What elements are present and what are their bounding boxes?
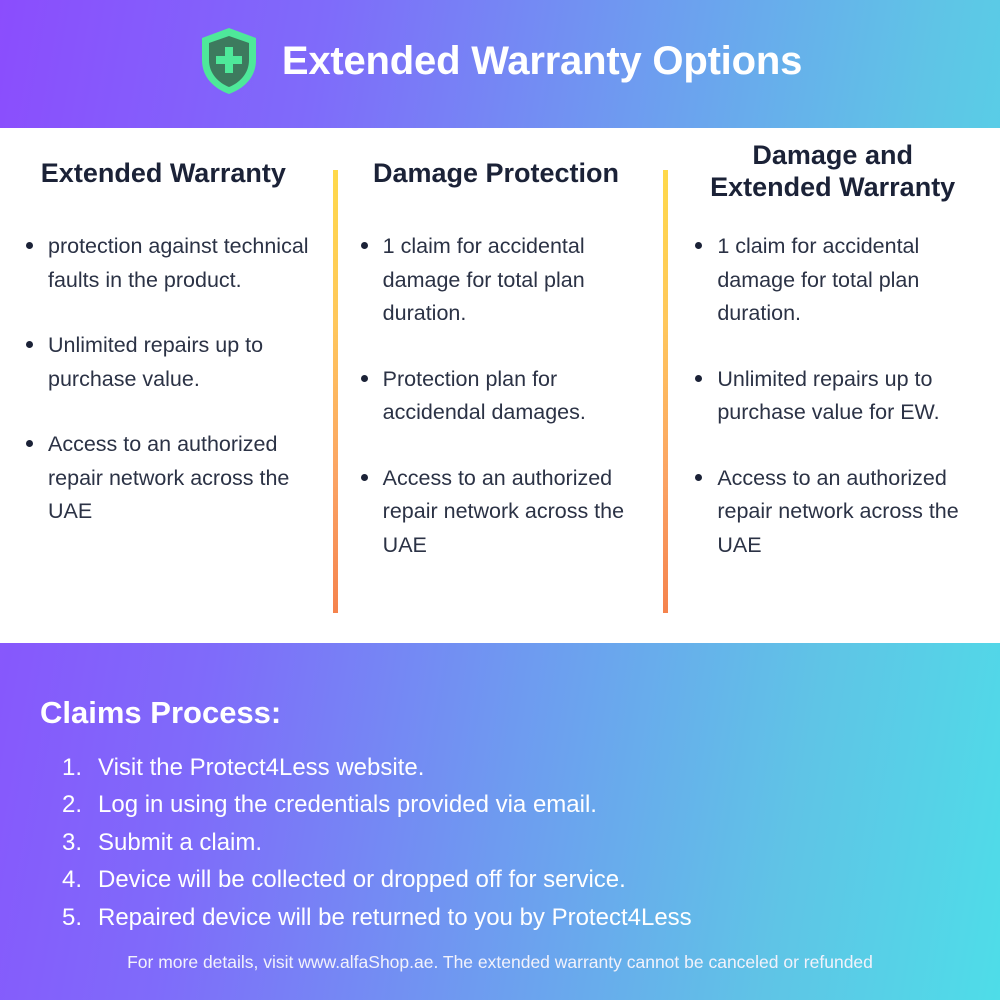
- feature-text: Unlimited repairs up to purchase value f…: [717, 367, 939, 425]
- comparison-panel: Extended Warranty protection against tec…: [0, 128, 1000, 643]
- plan-column-extended-warranty: Extended Warranty protection against tec…: [0, 128, 329, 643]
- list-item: Repaired device will be returned to you …: [62, 899, 960, 936]
- list-item: protection against technical faults in t…: [22, 230, 313, 297]
- feature-text: Protection plan for accidendal damages.: [383, 367, 586, 425]
- column-heading-1: Extended Warranty: [14, 128, 313, 224]
- plan-column-damage-protection: Damage Protection 1 claim for accidental…: [329, 128, 662, 643]
- bullet-dot-icon: [695, 474, 702, 481]
- bullet-dot-icon: [26, 242, 33, 249]
- column-heading-3-line-1: Damage and: [683, 140, 982, 172]
- shield-plus-icon: [198, 26, 260, 96]
- feature-text: 1 claim for accidental damage for total …: [383, 234, 585, 325]
- list-item: Access to an authorized repair network a…: [22, 428, 313, 529]
- claims-process-steps: Visit the Protect4Less website. Log in u…: [62, 749, 960, 936]
- plan-column-damage-and-extended-warranty: Damage and Extended Warranty 1 claim for…: [661, 128, 1000, 643]
- feature-list-2: 1 claim for accidental damage for total …: [347, 230, 646, 562]
- column-heading-3-line-2: Extended Warranty: [683, 172, 982, 204]
- feature-list-3: 1 claim for accidental damage for total …: [683, 230, 982, 562]
- feature-text: protection against technical faults in t…: [48, 234, 309, 292]
- column-heading-3: Damage and Extended Warranty: [683, 128, 982, 224]
- bullet-dot-icon: [361, 375, 368, 382]
- page-title: Extended Warranty Options: [282, 39, 802, 84]
- list-item: 1 claim for accidental damage for total …: [691, 230, 982, 331]
- list-item: Log in using the credentials provided vi…: [62, 786, 960, 823]
- bullet-dot-icon: [26, 440, 33, 447]
- bullet-dot-icon: [695, 375, 702, 382]
- list-item: Device will be collected or dropped off …: [62, 861, 960, 898]
- list-item: Submit a claim.: [62, 824, 960, 861]
- list-item: Protection plan for accidendal damages.: [357, 363, 646, 430]
- feature-text: Unlimited repairs up to purchase value.: [48, 333, 263, 391]
- claims-process-title: Claims Process:: [40, 695, 960, 731]
- list-item: Unlimited repairs up to purchase value f…: [691, 363, 982, 430]
- list-item: Access to an authorized repair network a…: [357, 462, 646, 563]
- list-item: Visit the Protect4Less website.: [62, 749, 960, 786]
- list-item: Unlimited repairs up to purchase value.: [22, 329, 313, 396]
- bullet-dot-icon: [361, 474, 368, 481]
- bullet-dot-icon: [695, 242, 702, 249]
- feature-text: Access to an authorized repair network a…: [383, 466, 624, 557]
- feature-text: Access to an authorized repair network a…: [717, 466, 958, 557]
- warranty-poster: Extended Warranty Options Extended Warra…: [0, 0, 1000, 1000]
- feature-text: Access to an authorized repair network a…: [48, 432, 289, 523]
- poster-header: Extended Warranty Options: [0, 0, 1000, 128]
- list-item: Access to an authorized repair network a…: [691, 462, 982, 563]
- bullet-dot-icon: [361, 242, 368, 249]
- column-heading-2: Damage Protection: [347, 128, 646, 224]
- footer-fineprint: For more details, visit www.alfaShop.ae.…: [0, 952, 1000, 973]
- bullet-dot-icon: [26, 341, 33, 348]
- claims-process-section: Claims Process: Visit the Protect4Less w…: [0, 643, 1000, 1000]
- feature-list-1: protection against technical faults in t…: [14, 230, 313, 529]
- list-item: 1 claim for accidental damage for total …: [357, 230, 646, 331]
- feature-text: 1 claim for accidental damage for total …: [717, 234, 919, 325]
